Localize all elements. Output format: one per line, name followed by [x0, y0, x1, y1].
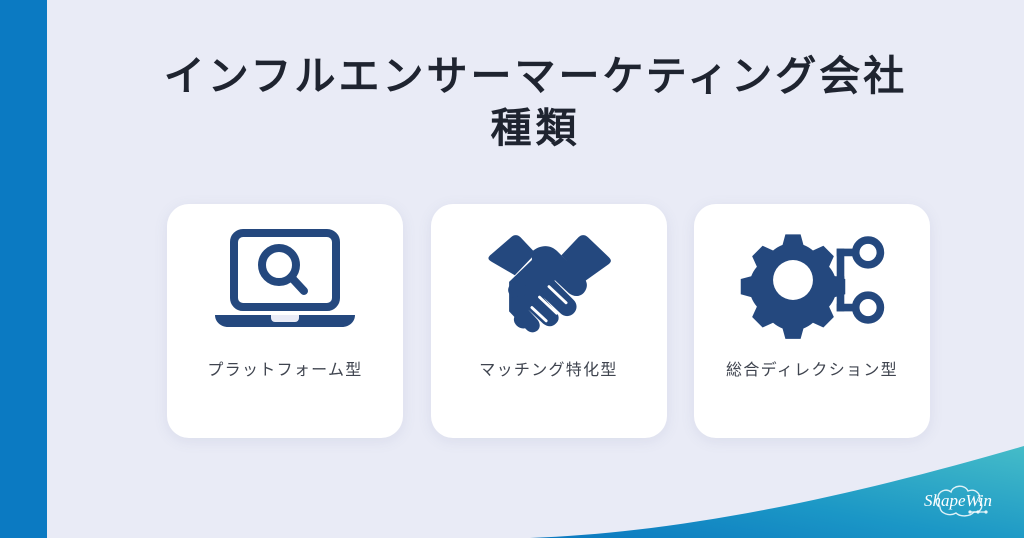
title-line-1: インフルエンサーマーケティング会社	[47, 50, 1024, 102]
category-card-platform[interactable]: プラットフォーム型	[167, 204, 403, 438]
title-line-2: 種類	[47, 102, 1024, 154]
page-title: インフルエンサーマーケティング会社 種類	[47, 50, 1024, 155]
slide-content: インフルエンサーマーケティング会社 種類	[47, 0, 1024, 538]
category-card-direction[interactable]: 総合ディレクション型	[694, 204, 930, 438]
category-card-label: 総合ディレクション型	[726, 356, 898, 380]
gear-network-icon	[694, 204, 930, 356]
slide-canvas: インフルエンサーマーケティング会社 種類	[0, 0, 1024, 538]
handshake-icon	[431, 204, 667, 356]
category-card-matching[interactable]: マッチング特化型	[431, 204, 667, 438]
shapewin-logo[interactable]: ShapeWin	[910, 478, 1006, 524]
category-card-list: プラットフォーム型	[167, 204, 930, 438]
category-card-label: プラットフォーム型	[207, 356, 362, 380]
logo-text: ShapeWin	[924, 491, 992, 510]
laptop-search-icon	[167, 204, 403, 356]
category-card-label: マッチング特化型	[479, 356, 617, 380]
left-accent-bar	[0, 0, 47, 538]
